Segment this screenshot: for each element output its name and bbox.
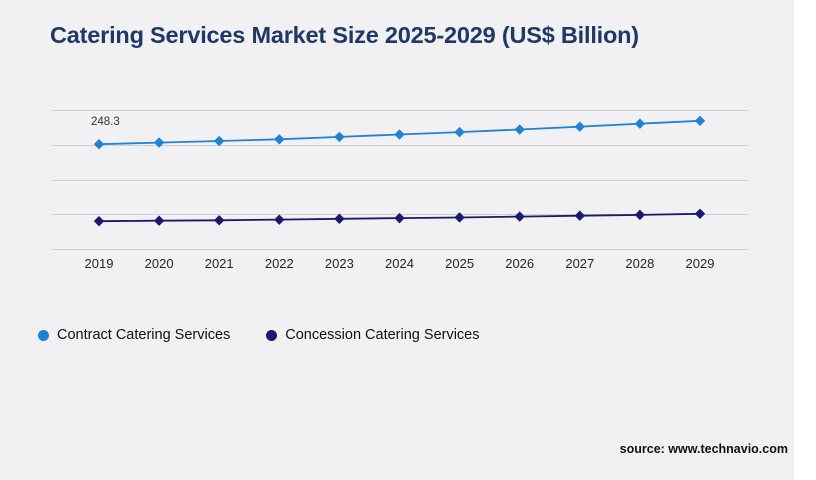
x-axis-tick-label: 2028 bbox=[625, 256, 654, 271]
x-axis-tick-label: 2027 bbox=[565, 256, 594, 271]
legend-item-concession-catering-services[interactable]: Concession Catering Services bbox=[266, 327, 479, 343]
data-point-marker[interactable] bbox=[334, 132, 344, 142]
x-axis-tick-label: 2023 bbox=[325, 256, 354, 271]
x-axis-tick-label: 2025 bbox=[445, 256, 474, 271]
x-axis-tick-label: 2029 bbox=[686, 256, 715, 271]
page-title: Catering Services Market Size 2025-2029 … bbox=[50, 22, 639, 49]
data-point-marker[interactable] bbox=[214, 215, 224, 225]
chart-legend: Contract Catering Services Concession Ca… bbox=[38, 324, 516, 346]
x-axis-tick-label: 2024 bbox=[385, 256, 414, 271]
legend-label: Concession Catering Services bbox=[285, 327, 479, 343]
data-point-marker[interactable] bbox=[575, 122, 585, 132]
data-point-marker[interactable] bbox=[394, 213, 404, 223]
data-point-marker[interactable] bbox=[454, 127, 464, 137]
data-point-marker[interactable] bbox=[94, 216, 104, 226]
data-point-marker[interactable] bbox=[575, 211, 585, 221]
data-point-marker[interactable] bbox=[515, 124, 525, 134]
x-axis-tick-label: 2022 bbox=[265, 256, 294, 271]
legend-item-contract-catering-services[interactable]: Contract Catering Services bbox=[38, 327, 230, 343]
source-attribution: source: www.technavio.com bbox=[620, 442, 788, 456]
x-axis-tick-label: 2020 bbox=[145, 256, 174, 271]
data-point-marker[interactable] bbox=[154, 137, 164, 147]
legend-marker-icon bbox=[38, 330, 49, 341]
data-point-marker[interactable] bbox=[695, 116, 705, 126]
x-axis-tick-label: 2019 bbox=[85, 256, 114, 271]
data-point-marker[interactable] bbox=[454, 212, 464, 222]
legend-marker-icon bbox=[266, 330, 277, 341]
data-point-marker[interactable] bbox=[94, 139, 104, 149]
data-point-marker[interactable] bbox=[274, 214, 284, 224]
data-point-marker[interactable] bbox=[274, 134, 284, 144]
data-point-marker[interactable] bbox=[635, 210, 645, 220]
series-layer bbox=[52, 100, 748, 252]
legend-label: Contract Catering Services bbox=[57, 327, 230, 343]
data-point-marker[interactable] bbox=[635, 118, 645, 128]
x-axis-tick-label: 2021 bbox=[205, 256, 234, 271]
data-point-marker[interactable] bbox=[334, 214, 344, 224]
data-point-marker[interactable] bbox=[695, 209, 705, 219]
plot-area: 248.3 bbox=[52, 100, 748, 252]
x-axis: 2019202020212022202320242025202620272028… bbox=[52, 256, 748, 278]
data-point-label: 248.3 bbox=[91, 116, 120, 128]
right-margin-strip bbox=[794, 0, 816, 480]
data-point-marker[interactable] bbox=[515, 211, 525, 221]
chart-canvas: Catering Services Market Size 2025-2029 … bbox=[0, 0, 816, 480]
x-axis-tick-label: 2026 bbox=[505, 256, 534, 271]
data-point-marker[interactable] bbox=[214, 136, 224, 146]
data-point-marker[interactable] bbox=[394, 129, 404, 139]
data-point-marker[interactable] bbox=[154, 216, 164, 226]
